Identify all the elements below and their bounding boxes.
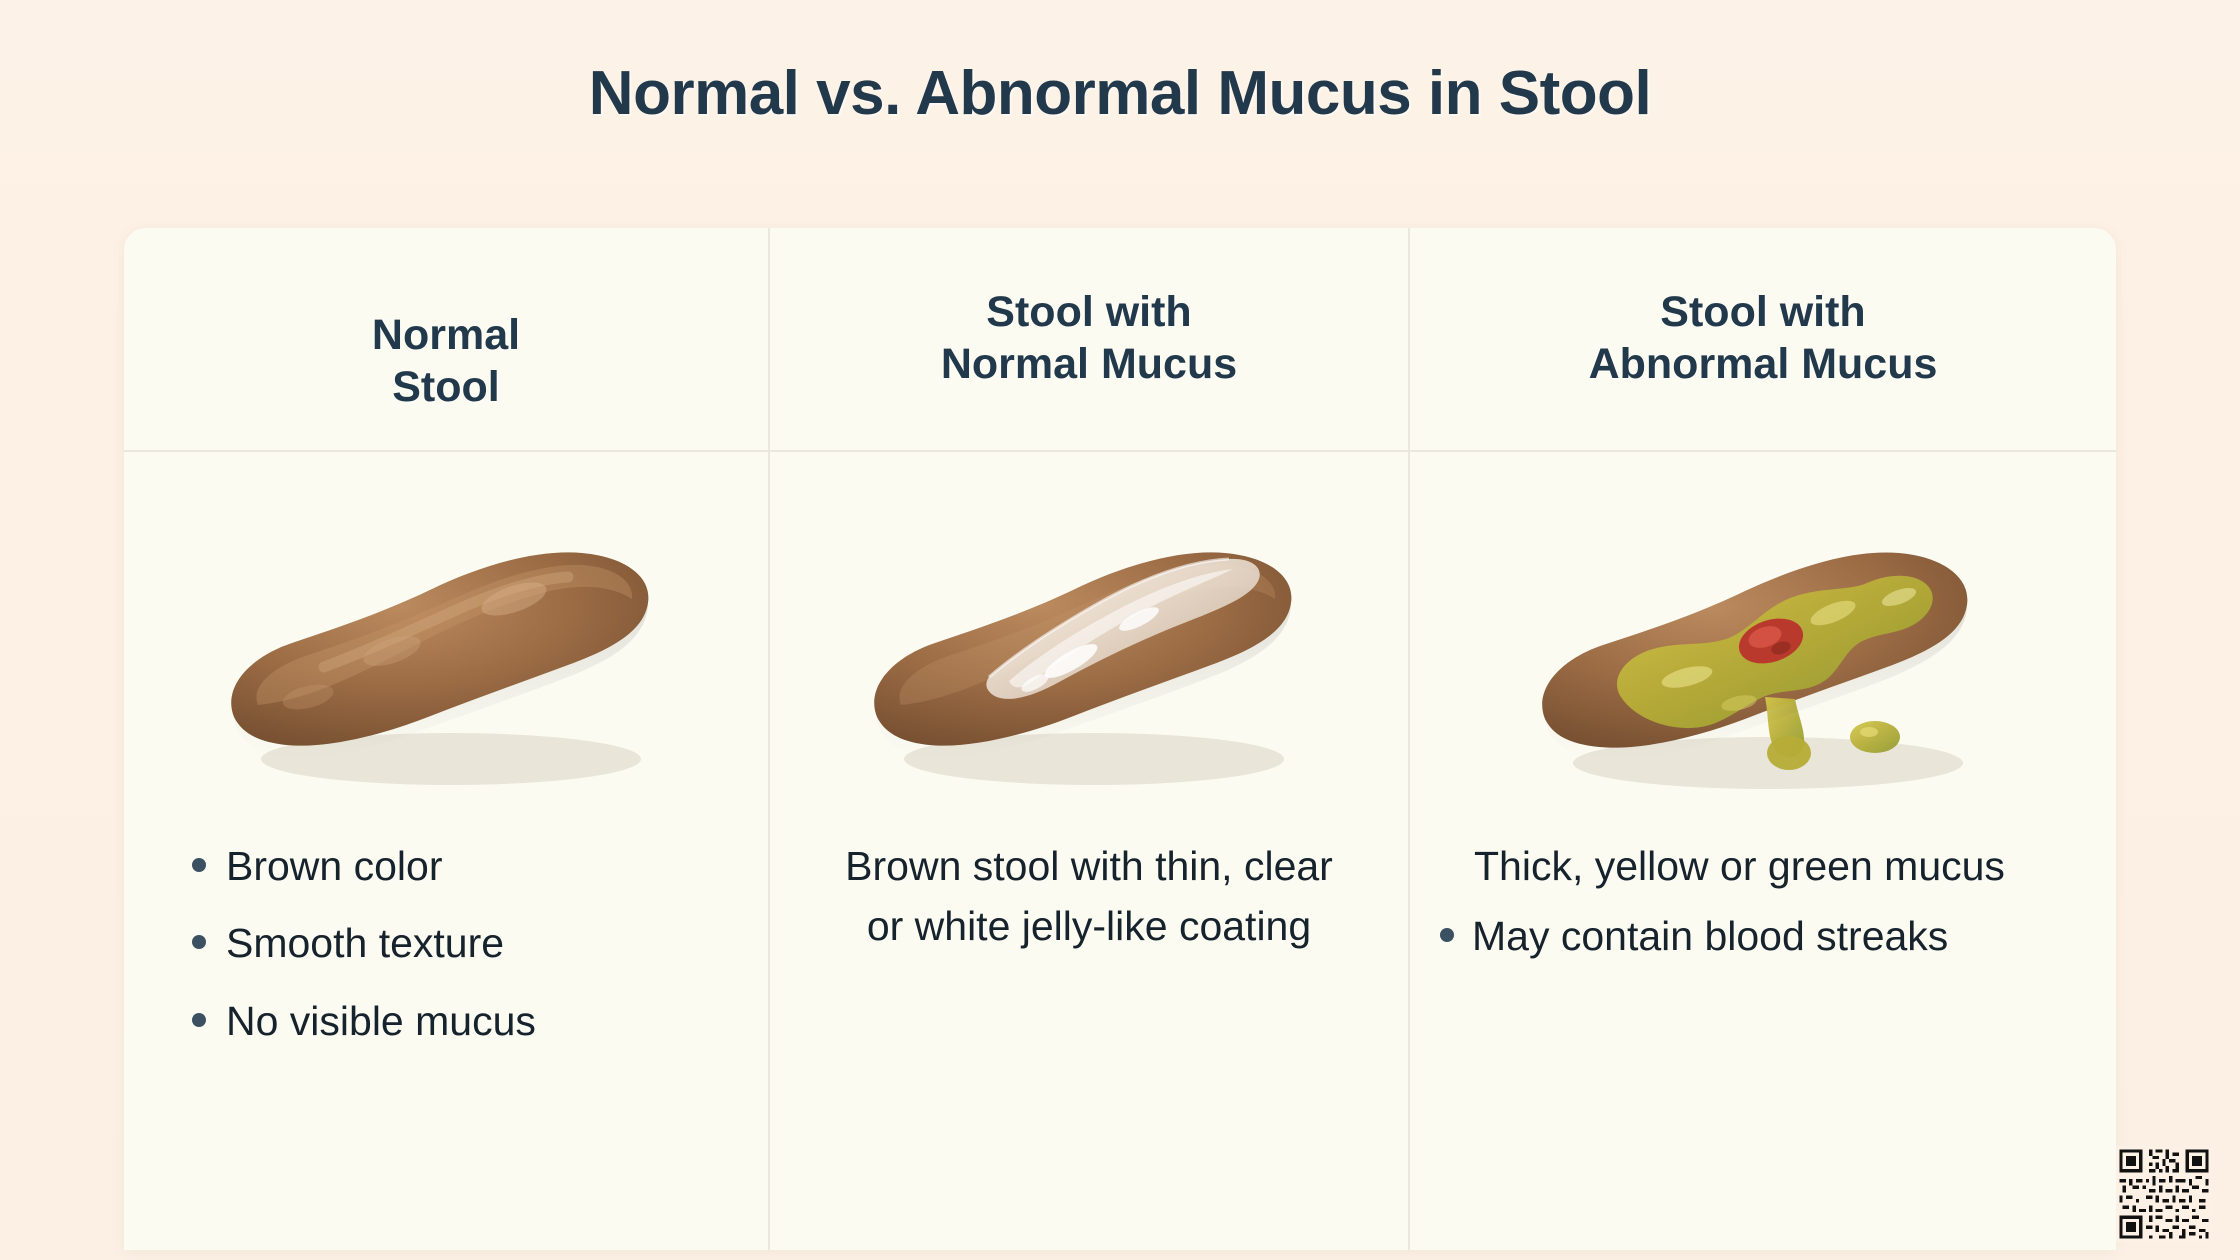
abnormal-mucus-description: Thick, yellow or green mucus May contain… xyxy=(1432,836,2094,1240)
column-header-normal-stool: Normal Stool xyxy=(124,228,768,450)
normal-mucus-description: Brown stool with thin, clear or white je… xyxy=(792,836,1386,1240)
column-header-stool-with-normal-mucus: Stool with Normal Mucus xyxy=(768,228,1408,450)
header-line-1: Stool with xyxy=(986,288,1191,336)
column-header-text: Normal Stool xyxy=(124,228,768,450)
column-header-stool-with-abnormal-mucus: Stool with Abnormal Mucus xyxy=(1408,228,2116,450)
normal-stool-description: Brown color Smooth texture No visible mu… xyxy=(146,836,746,1240)
column-body-stool-with-abnormal-mucus: Thick, yellow or green mucus May contain… xyxy=(1408,452,2116,1250)
header-line-1: Stool with xyxy=(1660,288,1865,336)
header-line-2: Abnormal Mucus xyxy=(1589,340,1938,388)
header-line-2: Stool xyxy=(392,363,499,411)
column-header-text: Stool with Normal Mucus xyxy=(770,228,1408,450)
lead-text: Thick, yellow or green mucus xyxy=(1432,836,2094,896)
feature-list: Brown color Smooth texture No visible mu… xyxy=(184,836,746,1051)
header-line-2: Normal Mucus xyxy=(941,340,1237,388)
page-title: Normal vs. Abnormal Mucus in Stool xyxy=(0,58,2240,129)
header-line-1: Normal xyxy=(372,311,520,359)
column-header-text: Stool with Abnormal Mucus xyxy=(1410,228,2116,450)
column-body-row: Brown color Smooth texture No visible mu… xyxy=(124,452,2116,1250)
stool-with-clear-mucus-illustration xyxy=(792,476,1386,836)
comparison-card: Normal Stool Stool with Normal Mucus Sto… xyxy=(124,228,2116,1250)
list-item: May contain blood streaks xyxy=(1432,906,2094,966)
list-item: No visible mucus xyxy=(184,991,746,1051)
column-body-normal-stool: Brown color Smooth texture No visible mu… xyxy=(124,452,768,1250)
feature-list: May contain blood streaks xyxy=(1432,906,2094,966)
stool-with-yellow-green-mucus-illustration xyxy=(1432,476,2094,836)
list-item: Smooth texture xyxy=(184,913,746,973)
list-item: Brown color xyxy=(184,836,746,896)
normal-stool-illustration xyxy=(146,476,746,836)
column-body-stool-with-normal-mucus: Brown stool with thin, clear or white je… xyxy=(768,452,1408,1250)
description-text: Brown stool with thin, clear or white je… xyxy=(822,836,1356,957)
infographic-page: Normal vs. Abnormal Mucus in Stool Norma… xyxy=(0,0,2240,1260)
qr-code xyxy=(2116,1146,2212,1242)
column-header-row: Normal Stool Stool with Normal Mucus Sto… xyxy=(124,228,2116,452)
